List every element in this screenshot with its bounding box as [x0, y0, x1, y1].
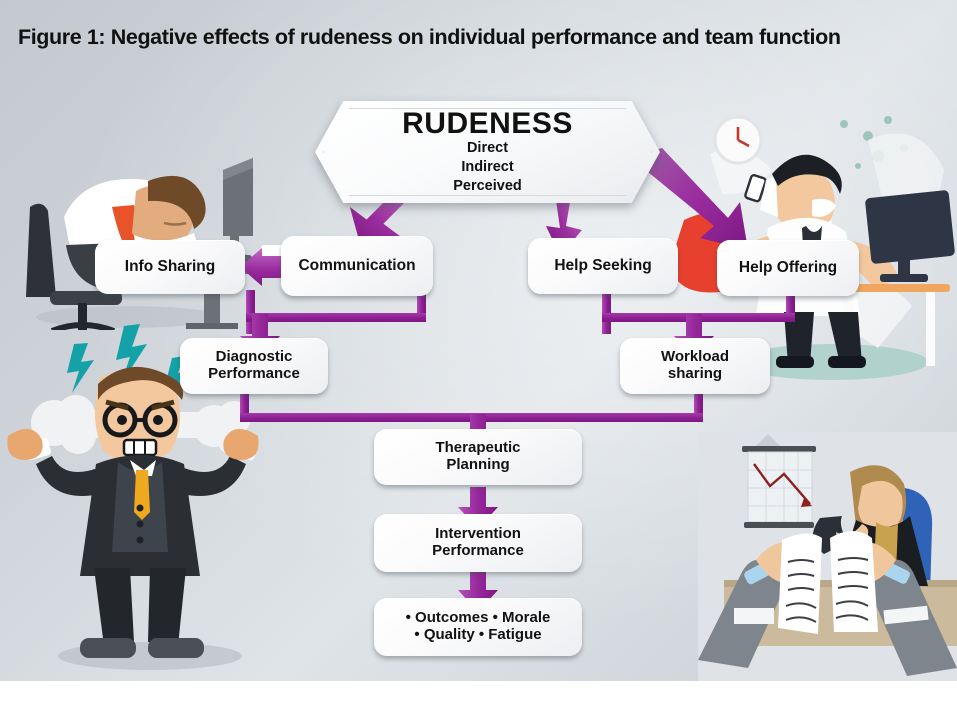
node-workload-sharing-line1: Workload — [655, 349, 735, 366]
rudeness-heading: RUDENESS — [402, 108, 573, 140]
node-intervention-performance-line2: Performance — [426, 543, 530, 560]
node-diagnostic-performance-line1: Diagnostic — [210, 349, 299, 366]
node-diagnostic-performance-line2: Performance — [202, 366, 306, 383]
figure-title: Figure 1: Negative effects of rudeness o… — [18, 25, 948, 59]
rudeness-line-perceived: Perceived — [453, 177, 522, 196]
stressed-worker-illustration — [698, 432, 957, 681]
node-outcomes[interactable]: • Outcomes • Morale • Quality • Fatigue — [374, 598, 582, 656]
node-intervention-performance[interactable]: Intervention Performance — [374, 514, 582, 572]
node-help-seeking[interactable]: Help Seeking — [528, 238, 678, 294]
node-outcomes-line2: • Quality • Fatigue — [408, 627, 547, 644]
node-communication-label: Communication — [292, 257, 421, 275]
node-therapeutic-planning[interactable]: Therapeutic Planning — [374, 429, 582, 485]
node-outcomes-line1: • Outcomes • Morale — [400, 610, 557, 627]
rudeness-line-indirect: Indirect — [461, 158, 513, 177]
node-diagnostic-performance[interactable]: Diagnostic Performance — [180, 338, 328, 394]
node-communication[interactable]: Communication — [281, 236, 433, 296]
node-info-sharing[interactable]: Info Sharing — [95, 240, 245, 294]
node-help-offering[interactable]: Help Offering — [717, 240, 859, 296]
node-therapeutic-planning-line2: Planning — [440, 457, 515, 474]
node-help-offering-label: Help Offering — [733, 259, 843, 277]
exhausted-employee-illustration — [8, 95, 308, 330]
node-therapeutic-planning-line1: Therapeutic — [429, 440, 526, 457]
node-info-sharing-label: Info Sharing — [119, 258, 221, 276]
node-workload-sharing[interactable]: Workload sharing — [620, 338, 770, 394]
node-intervention-performance-line1: Intervention — [429, 526, 527, 543]
rudeness-line-direct: Direct — [467, 139, 508, 158]
node-workload-sharing-line2: sharing — [662, 366, 728, 383]
figure-page: RUDENESS Direct Indirect Perceived Info … — [0, 0, 957, 712]
rudeness-banner: RUDENESS Direct Indirect Perceived — [315, 101, 660, 203]
connector-help-seeking-down — [602, 290, 611, 334]
node-help-seeking-label: Help Seeking — [548, 257, 657, 275]
